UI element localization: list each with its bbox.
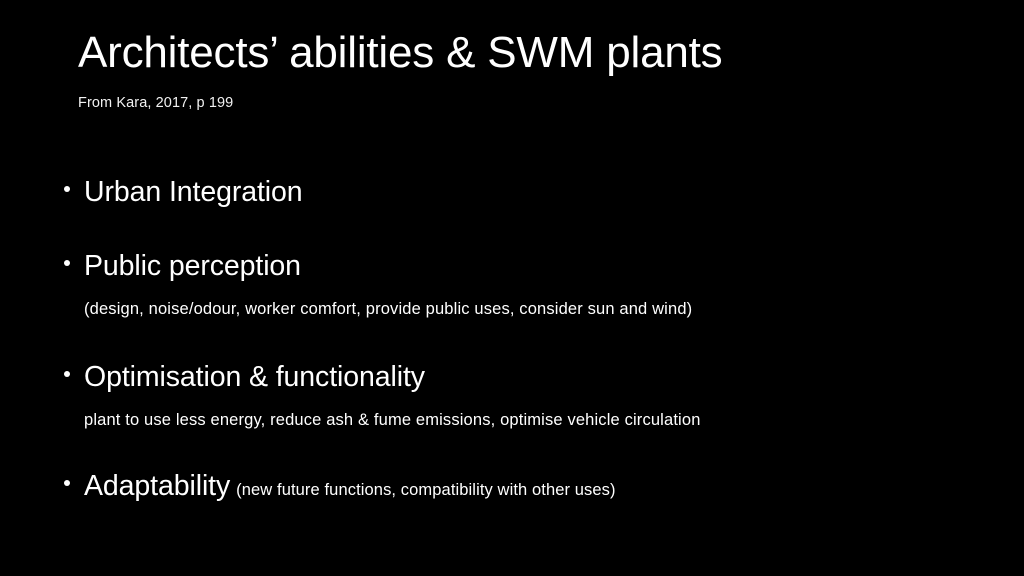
bullet-label: Urban Integration <box>84 176 303 208</box>
bullet-list: Urban Integration Public perception (des… <box>62 178 962 502</box>
bullet-sub-text: plant to use less energy, reduce ash & f… <box>62 393 962 431</box>
page-title: Architects’ abilities & SWM plants <box>78 28 958 77</box>
slide-canvas: Architects’ abilities & SWM plants From … <box>0 0 1024 576</box>
list-item: Optimisation & functionality plant to us… <box>62 320 962 431</box>
bullet-dot-icon <box>64 371 70 377</box>
bullet-sub-text: (design, noise/odour, worker comfort, pr… <box>62 282 962 320</box>
bullet-label: Public perception <box>84 250 301 282</box>
title-block: Architects’ abilities & SWM plants From … <box>78 28 958 111</box>
bullet-dot-icon <box>64 186 70 192</box>
bullet-row: Urban Integration <box>62 178 962 208</box>
bullet-dot-icon <box>64 260 70 266</box>
bullet-row: Optimisation & functionality <box>62 363 962 393</box>
list-item: Adaptability(new future functions, compa… <box>62 430 962 502</box>
list-item: Urban Integration <box>62 178 962 208</box>
bullet-inline-note: (new future functions, compatibility wit… <box>230 481 615 499</box>
bullet-dot-icon <box>64 480 70 486</box>
bullet-row: Public perception <box>62 252 962 282</box>
bullet-row: Adaptability(new future functions, compa… <box>62 472 962 502</box>
bullet-label: Optimisation & functionality <box>84 361 425 393</box>
slide-source-citation: From Kara, 2017, p 199 <box>78 77 958 111</box>
list-item: Public perception (design, noise/odour, … <box>62 208 962 320</box>
bullet-label: Adaptability <box>84 470 230 502</box>
